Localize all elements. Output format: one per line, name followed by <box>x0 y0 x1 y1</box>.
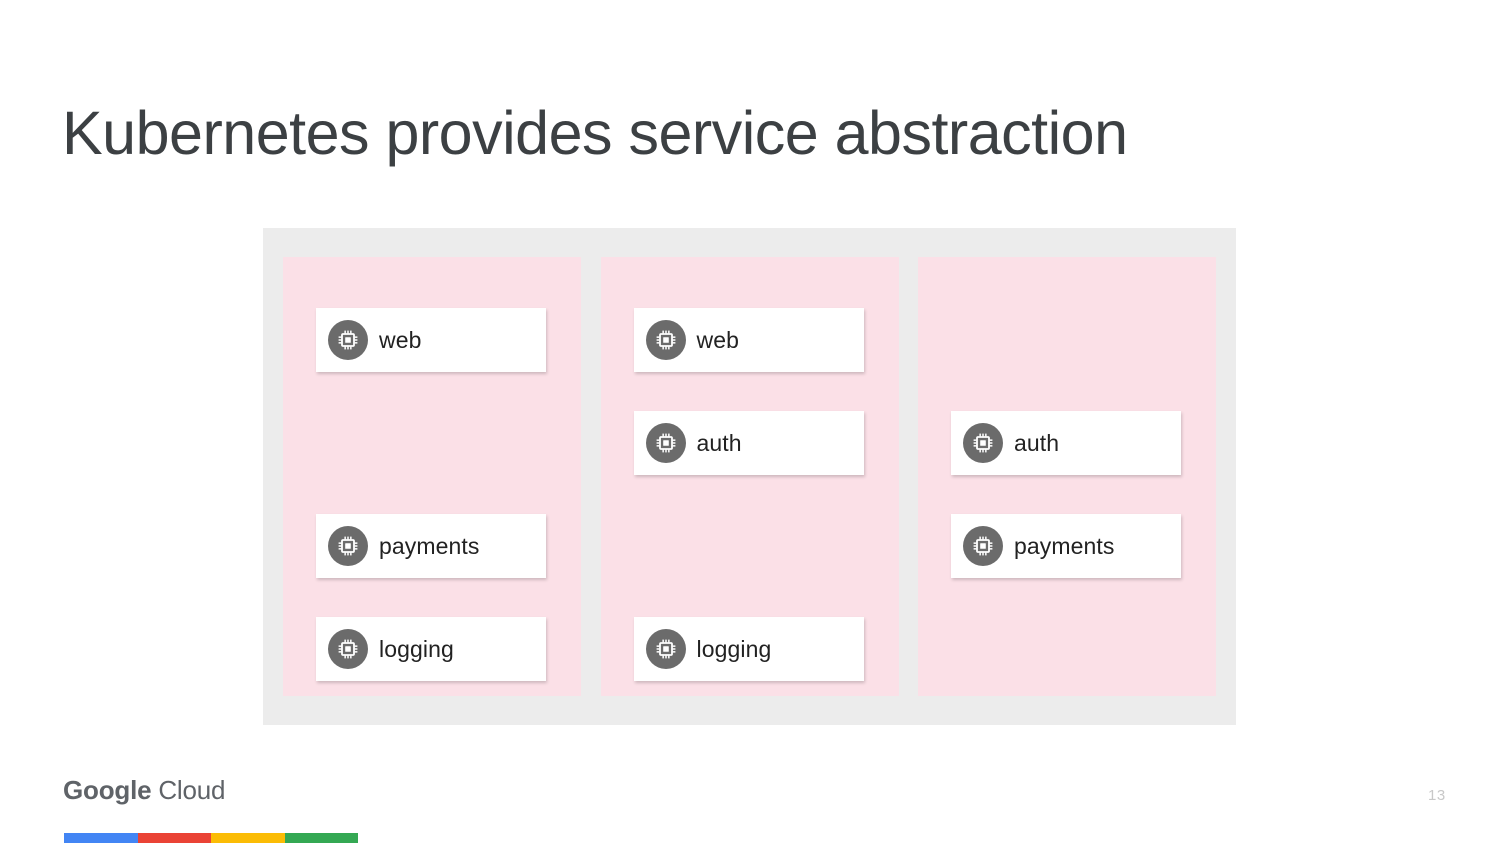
color-bar-segment-yellow <box>211 833 285 843</box>
pod-label: logging <box>697 636 772 663</box>
cpu-chip-icon <box>963 423 1003 463</box>
pod-card[interactable]: web <box>634 308 864 372</box>
brand-color-bar <box>64 833 358 843</box>
page-number: 13 <box>1428 787 1446 804</box>
cpu-chip-icon <box>328 629 368 669</box>
cluster-container: web <box>263 228 1236 725</box>
cpu-chip-icon <box>328 320 368 360</box>
logo-google-text: Google <box>63 775 151 805</box>
cpu-chip-icon <box>646 629 686 669</box>
pod-label: web <box>379 327 422 354</box>
pod-card[interactable]: payments <box>951 514 1181 578</box>
pod-label: payments <box>379 533 480 560</box>
pod-card[interactable]: logging <box>634 617 864 681</box>
color-bar-segment-green <box>285 833 359 843</box>
page-title: Kubernetes provides service abstraction <box>62 98 1128 168</box>
pod-label: logging <box>379 636 454 663</box>
cpu-chip-icon <box>328 526 368 566</box>
cpu-chip-icon <box>646 320 686 360</box>
pod-card[interactable]: payments <box>316 514 546 578</box>
node-1: web <box>283 257 581 696</box>
color-bar-segment-blue <box>64 833 138 843</box>
node-2: web <box>601 257 899 696</box>
pod-label: auth <box>1014 430 1059 457</box>
pod-label: payments <box>1014 533 1115 560</box>
node-3: auth <box>918 257 1216 696</box>
pod-card[interactable]: web <box>316 308 546 372</box>
cpu-chip-icon <box>963 526 1003 566</box>
cpu-chip-icon <box>646 423 686 463</box>
pod-label: web <box>697 327 740 354</box>
pod-card[interactable]: auth <box>634 411 864 475</box>
logo-cloud-text: Cloud <box>158 775 225 805</box>
color-bar-segment-red <box>138 833 212 843</box>
google-cloud-logo: GoogleCloud <box>63 775 225 806</box>
pod-card[interactable]: logging <box>316 617 546 681</box>
pod-card[interactable]: auth <box>951 411 1181 475</box>
pod-label: auth <box>697 430 742 457</box>
